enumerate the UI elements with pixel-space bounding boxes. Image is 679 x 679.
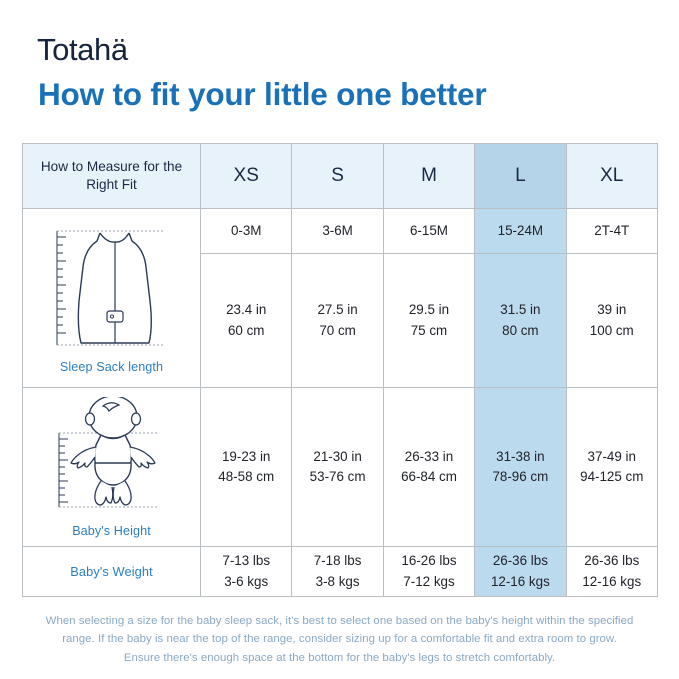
height-in-xl: 37-49 in xyxy=(567,447,657,467)
weight-kgs-xl: 12-16 kgs xyxy=(567,572,657,592)
weight-lbs-xs: 7-13 lbs xyxy=(201,551,291,571)
height-cell-m: 26-33 in 66-84 cm xyxy=(383,388,474,547)
sizing-note-line-1: When selecting a size for the baby sleep… xyxy=(22,612,657,630)
sleep-sack-label-cell: Sleep Sack length xyxy=(23,209,201,388)
age-cell-m: 6-15M xyxy=(383,209,474,254)
sleep-sack-caption: Sleep Sack length xyxy=(60,360,163,374)
height-in-l: 31-38 in xyxy=(475,447,565,467)
weight-lbs-s: 7-18 lbs xyxy=(292,551,382,571)
weight-kgs-s: 3-8 kgs xyxy=(292,572,382,592)
page-title: How to fit your little one better xyxy=(38,76,486,113)
height-cm-xl: 94-125 cm xyxy=(567,467,657,487)
length-in-xs: 23.4 in xyxy=(201,300,291,320)
size-header-xs: XS xyxy=(201,144,292,209)
size-header-s: S xyxy=(292,144,383,209)
height-cm-m: 66-84 cm xyxy=(384,467,474,487)
baby-weight-label: Baby's Weight xyxy=(70,564,152,579)
length-in-l: 31.5 in xyxy=(475,300,565,320)
length-cell-l: 31.5 in 80 cm xyxy=(475,254,566,388)
height-cell-xs: 19-23 in 48-58 cm xyxy=(201,388,292,547)
height-cell-xl: 37-49 in 94-125 cm xyxy=(566,388,657,547)
sizing-note-line-2: range. If the baby is near the top of th… xyxy=(22,630,657,648)
table-row-age: Sleep Sack length 0-3M 3-6M 6-15M 15-24M… xyxy=(23,209,658,254)
baby-illustration xyxy=(37,397,187,522)
size-fit-table: How to Measure for the Right Fit XS S M … xyxy=(22,143,658,597)
height-cell-l: 31-38 in 78-96 cm xyxy=(475,388,566,547)
age-cell-xs: 0-3M xyxy=(201,209,292,254)
length-cm-m: 75 cm xyxy=(384,321,474,341)
weight-kgs-xs: 3-6 kgs xyxy=(201,572,291,592)
length-cm-xl: 100 cm xyxy=(567,321,657,341)
length-cm-l: 80 cm xyxy=(475,321,565,341)
height-cm-s: 53-76 cm xyxy=(292,467,382,487)
weight-cell-l: 26-36 lbs 12-16 kgs xyxy=(475,547,566,597)
length-cm-xs: 60 cm xyxy=(201,321,291,341)
weight-kgs-m: 7-12 kgs xyxy=(384,572,474,592)
sizing-note: When selecting a size for the baby sleep… xyxy=(22,612,657,667)
baby-weight-label-cell: Baby's Weight xyxy=(23,547,201,597)
baby-height-caption: Baby's Height xyxy=(72,524,151,538)
sleep-sack-illustration xyxy=(37,223,187,358)
measure-header-cell: How to Measure for the Right Fit xyxy=(23,144,201,209)
size-header-xl: XL xyxy=(566,144,657,209)
length-cm-s: 70 cm xyxy=(292,321,382,341)
sizing-note-line-3: Ensure there's enough space at the botto… xyxy=(22,649,657,667)
age-cell-l: 15-24M xyxy=(475,209,566,254)
length-in-s: 27.5 in xyxy=(292,300,382,320)
table-header-row: How to Measure for the Right Fit XS S M … xyxy=(23,144,658,209)
brand-name: Totahä xyxy=(37,34,128,65)
table-row-baby-weight: Baby's Weight 7-13 lbs 3-6 kgs 7-18 lbs … xyxy=(23,547,658,597)
length-cell-xl: 39 in 100 cm xyxy=(566,254,657,388)
length-in-xl: 39 in xyxy=(567,300,657,320)
age-cell-s: 3-6M xyxy=(292,209,383,254)
brand-logo: Totahä xyxy=(37,26,128,72)
length-cell-s: 27.5 in 70 cm xyxy=(292,254,383,388)
weight-cell-m: 16-26 lbs 7-12 kgs xyxy=(383,547,474,597)
weight-kgs-l: 12-16 kgs xyxy=(475,572,565,592)
length-in-m: 29.5 in xyxy=(384,300,474,320)
height-in-s: 21-30 in xyxy=(292,447,382,467)
weight-lbs-m: 16-26 lbs xyxy=(384,551,474,571)
length-cell-xs: 23.4 in 60 cm xyxy=(201,254,292,388)
weight-cell-xs: 7-13 lbs 3-6 kgs xyxy=(201,547,292,597)
weight-cell-s: 7-18 lbs 3-8 kgs xyxy=(292,547,383,597)
weight-lbs-l: 26-36 lbs xyxy=(475,551,565,571)
height-in-xs: 19-23 in xyxy=(201,447,291,467)
table-row-baby-height: Baby's Height 19-23 in 48-58 cm 21-30 in… xyxy=(23,388,658,547)
height-in-m: 26-33 in xyxy=(384,447,474,467)
height-cell-s: 21-30 in 53-76 cm xyxy=(292,388,383,547)
size-header-l: L xyxy=(475,144,566,209)
age-cell-xl: 2T-4T xyxy=(566,209,657,254)
weight-lbs-xl: 26-36 lbs xyxy=(567,551,657,571)
length-cell-m: 29.5 in 75 cm xyxy=(383,254,474,388)
weight-cell-xl: 26-36 lbs 12-16 kgs xyxy=(566,547,657,597)
baby-height-label-cell: Baby's Height xyxy=(23,388,201,547)
size-header-m: M xyxy=(383,144,474,209)
height-cm-l: 78-96 cm xyxy=(475,467,565,487)
height-cm-xs: 48-58 cm xyxy=(201,467,291,487)
